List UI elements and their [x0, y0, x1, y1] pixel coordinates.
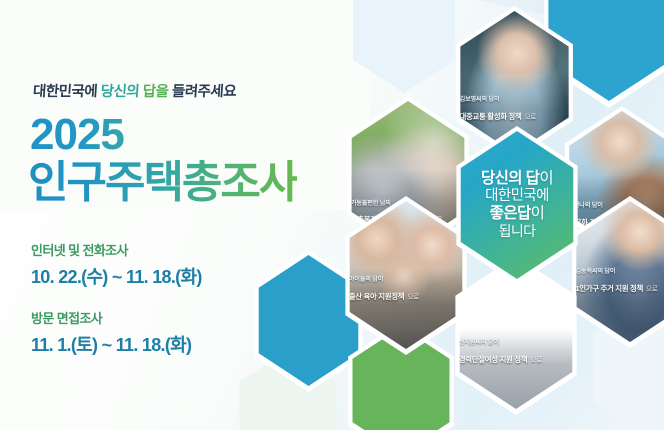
caption-line-top: 김보영씨의 답이: [460, 96, 573, 104]
caption-young-family: 아이들의 답이 출산 육아 지원정책으로: [349, 276, 466, 305]
center-message-line-3: 좋은답이: [490, 206, 545, 223]
caption-line-top: 아이들의 답이: [349, 276, 466, 284]
schedule-in-person: 방문 면접조사 11. 1.(토) ~ 11. 18.(화): [31, 308, 191, 357]
caption-line-tail: 으로: [407, 294, 419, 301]
tagline-part-2: 당신의: [100, 84, 140, 100]
center-message-line-1: 당신의 답이: [481, 171, 553, 188]
poster-title: 인구주택총조사: [28, 160, 297, 206]
schedule-label: 인터넷 및 전화조사: [31, 240, 202, 259]
caption-line-main: 1인가구 주거 지원 정책으로: [575, 284, 657, 294]
caption-single-household: 김동혁씨의 답이 1인가구 주거 지원 정책으로: [575, 268, 664, 297]
caption-line-main: 출산 육아 지원정책으로: [349, 292, 419, 302]
caption-line-top: 신지원씨의 답이: [459, 339, 576, 347]
tagline-part-1: 대한민국에: [32, 84, 97, 100]
center-message-line-4: 됩니다: [499, 224, 536, 239]
caption-line-main: 대중교통 활성화 정책으로: [460, 112, 537, 122]
tagline-part-3: 답을: [142, 84, 169, 100]
schedule-label: 방문 면접조사: [31, 308, 191, 327]
poster-year: 2025: [30, 113, 124, 157]
schedule-internet-phone: 인터넷 및 전화조사 10. 22.(수) ~ 11. 18.(화): [31, 240, 202, 289]
caption-career-woman: 신지원씨의 답이 경력단절여성 지원 정책으로: [459, 339, 576, 368]
tagline-part-4: 들려주세요: [171, 84, 236, 100]
caption-line-top: 김동혁씨의 답이: [575, 268, 664, 276]
caption-student-bus: 김보영씨의 답이 대중교통 활성화 정책으로: [460, 96, 573, 125]
caption-line-tail: 으로: [530, 357, 542, 364]
caption-line-tail: 으로: [525, 114, 537, 121]
center-message-line-2: 대한민국에: [485, 189, 549, 205]
schedule-date-range: 11. 1.(토) ~ 11. 18.(화): [31, 331, 191, 357]
caption-line-tail: 으로: [646, 286, 658, 293]
schedule-date-range: 10. 22.(수) ~ 11. 18.(화): [31, 263, 202, 289]
caption-line-main: 경력단절여성 지원 정책으로: [459, 355, 542, 365]
census-poster: 거동불편한 남의 맞춤복지사 노인 지원 정책으로 김보영씨의 답이 대중교통 …: [0, 0, 664, 430]
poster-tagline: 대한민국에 당신의 답을 들려주세요: [32, 80, 237, 101]
